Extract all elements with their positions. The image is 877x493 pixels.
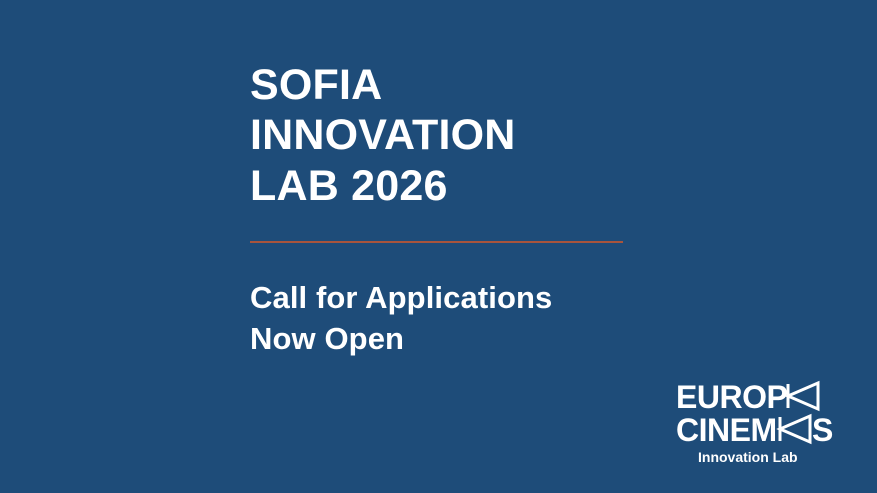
subtitle-line-1: Call for Applications: [250, 278, 850, 319]
headline-line-1: SOFIA: [250, 60, 850, 110]
europa-cinemas-logo: EUROP CINEM S Innovation Lab: [676, 378, 846, 468]
logo-tagline: Innovation Lab: [698, 449, 798, 465]
subtitle-block: Call for Applications Now Open: [250, 278, 850, 359]
logo-beam-a-icon-top: [788, 383, 818, 409]
page-title: SOFIA INNOVATION LAB 2026: [250, 60, 850, 211]
logo-line2-suffix: S: [812, 412, 833, 448]
divider-rule: [250, 241, 623, 243]
subtitle-line-2: Now Open: [250, 319, 850, 360]
promo-slide: SOFIA INNOVATION LAB 2026 Call for Appli…: [0, 0, 877, 493]
subtitle: Call for Applications Now Open: [250, 278, 850, 359]
headline-line-3: LAB 2026: [250, 161, 850, 211]
headline-line-2: INNOVATION: [250, 110, 850, 160]
logo-line2-text: CINEM: [676, 412, 777, 448]
logo-beam-a-icon-bottom: [780, 416, 810, 442]
logo-line1-text: EUROP: [676, 379, 787, 415]
logo-svg: EUROP CINEM S Innovation Lab: [676, 378, 846, 468]
headline-block: SOFIA INNOVATION LAB 2026: [250, 60, 850, 211]
